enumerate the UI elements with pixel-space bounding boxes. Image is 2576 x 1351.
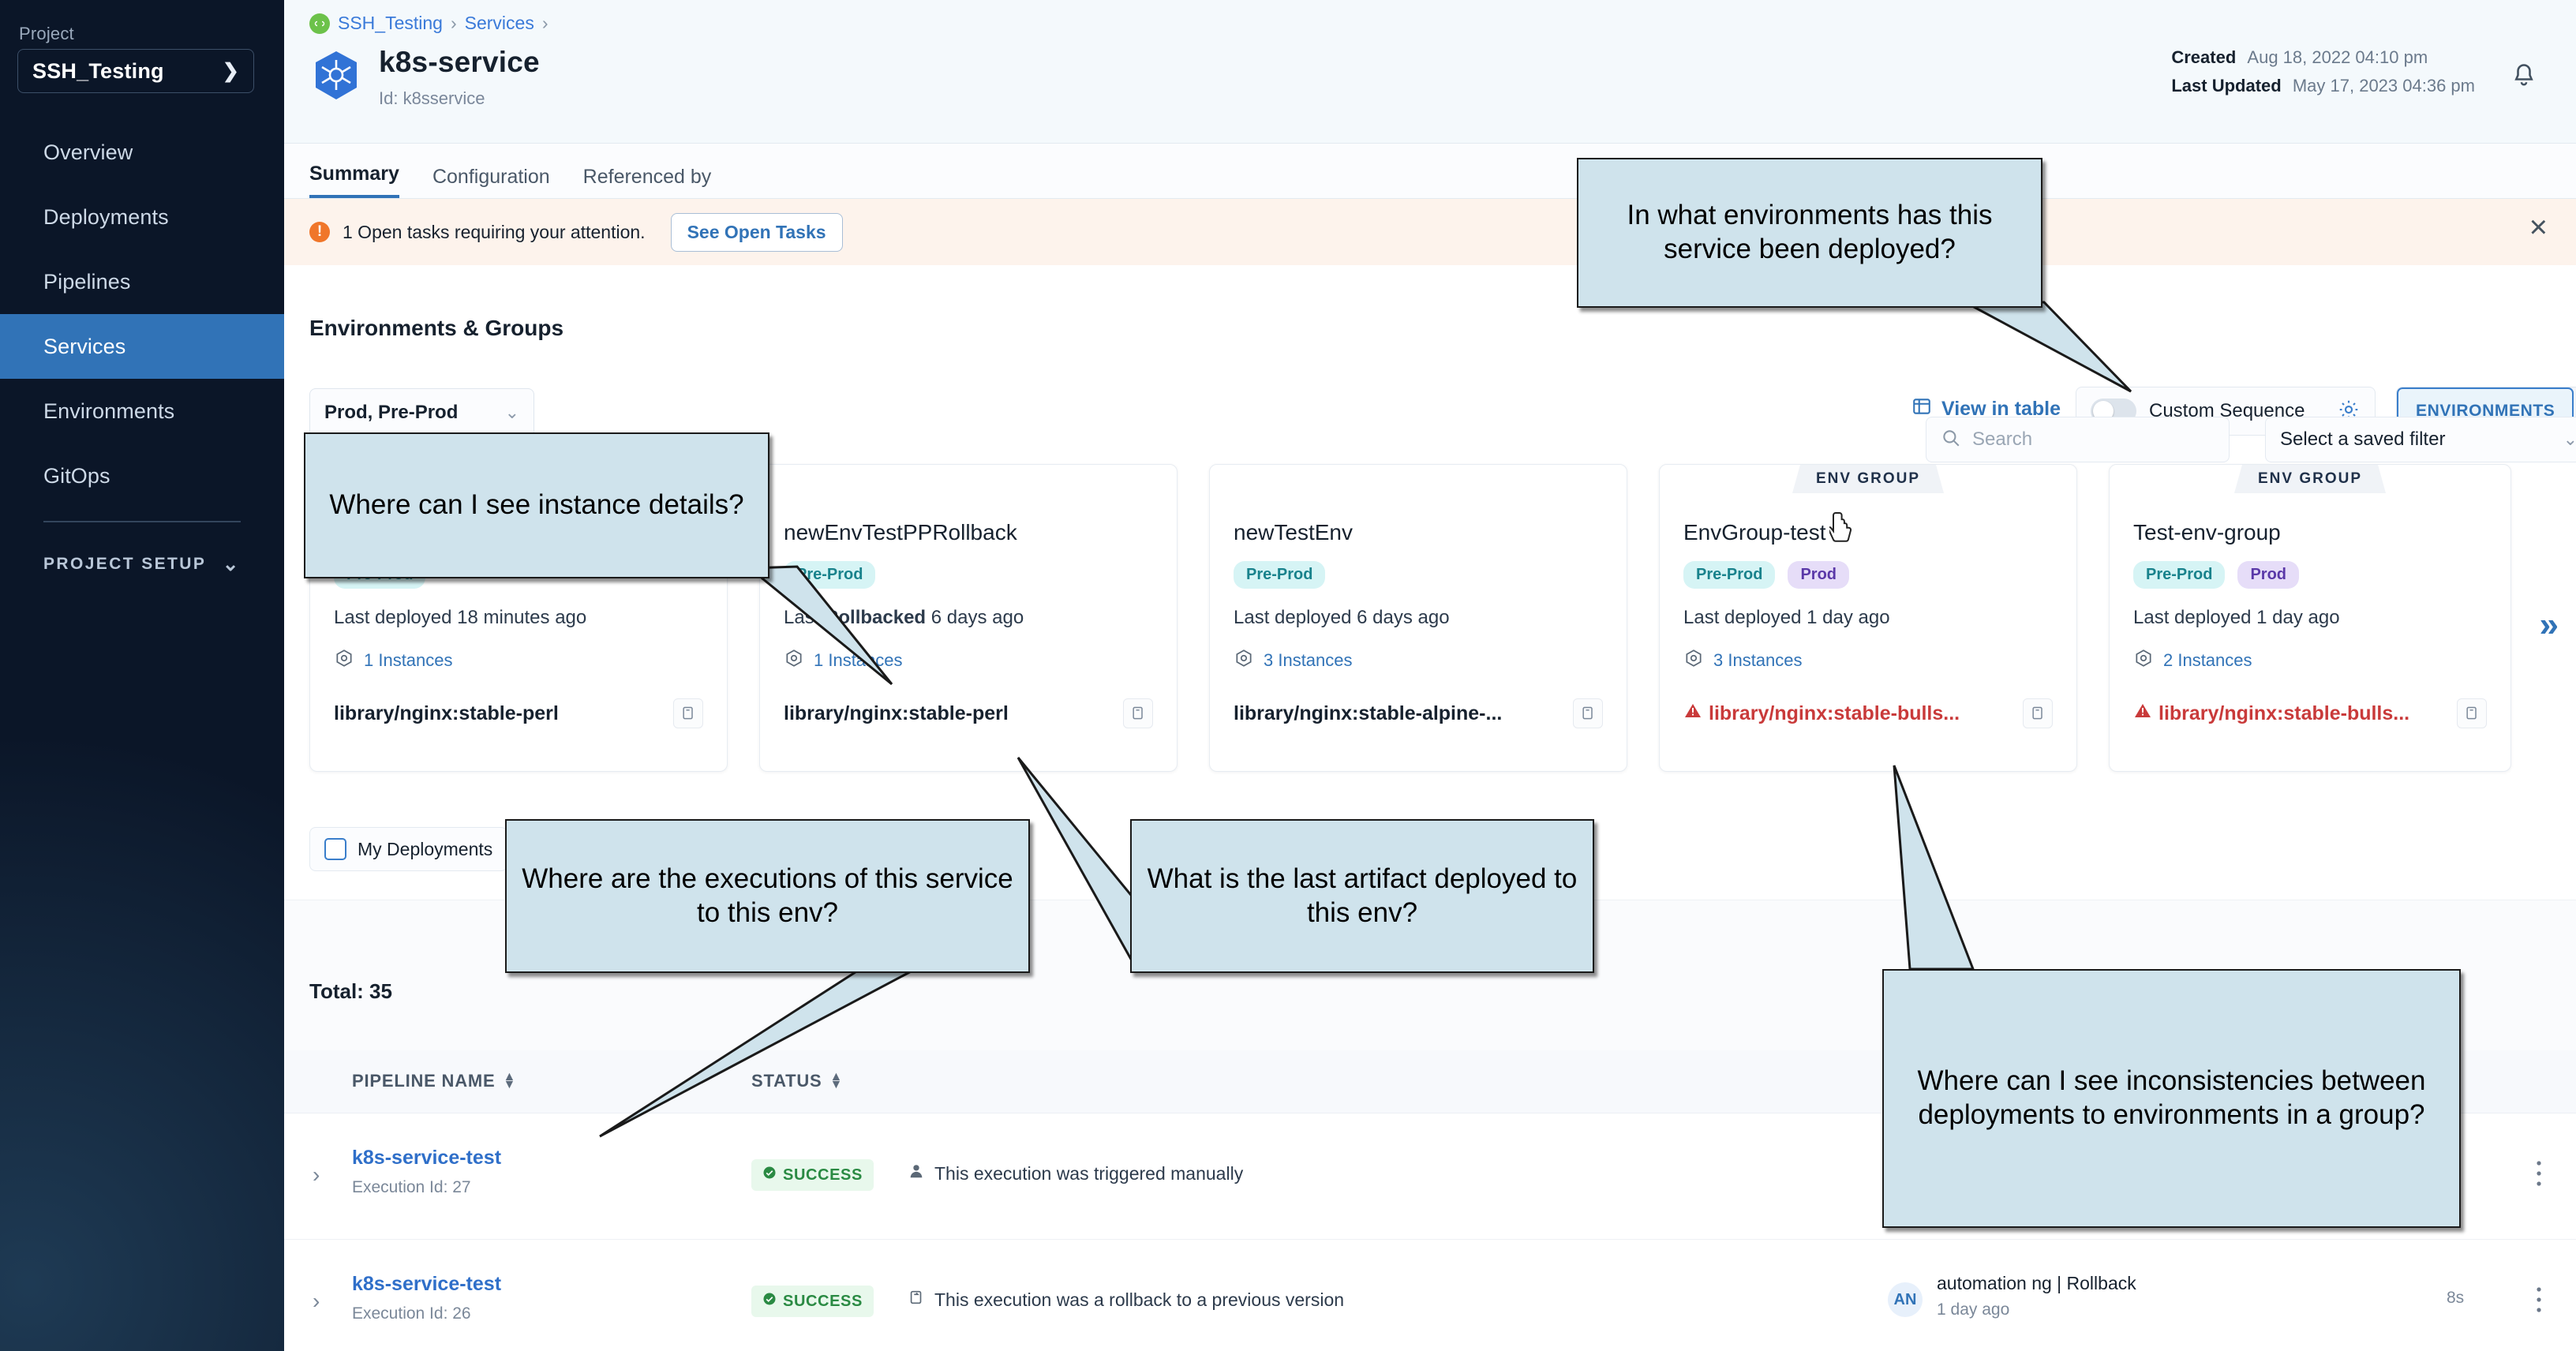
artifact-name: library/nginx:stable-bulls... — [2133, 702, 2409, 726]
breadcrumb-project[interactable]: SSH_Testing — [338, 13, 443, 34]
last-updated-label: Last Updated — [2171, 76, 2281, 95]
environment-group-card[interactable]: ENV GROUP EnvGroup-test Pre-Prod Prod La… — [1659, 464, 2077, 772]
deployed-prefix: Last deployed — [2133, 607, 2256, 628]
instances-icon — [334, 648, 354, 673]
org-logo-icon — [309, 13, 330, 34]
trigger-info: This execution was triggered manually — [908, 1162, 1243, 1184]
artifact-name-text: library/nginx:stable-bulls... — [1709, 702, 1960, 725]
trigger-text: This execution was a rollback to a previ… — [934, 1289, 1344, 1311]
environment-card-deployed: Last deployed 6 days ago — [1234, 607, 1450, 629]
sidebar-nav: Overview Deployments Pipelines Services … — [0, 120, 284, 508]
chevron-down-icon: ⌄ — [223, 552, 241, 576]
callout-environments: In what environments has this service be… — [1577, 158, 2042, 308]
sidebar-item-services[interactable]: Services — [0, 314, 284, 379]
avatar: AN — [1888, 1282, 1923, 1317]
environment-type-value: Prod, Pre-Prod — [324, 402, 458, 424]
deployed-prefix: Last — [784, 607, 825, 628]
instances-icon — [1683, 648, 1704, 673]
sidebar-item-label: Services — [43, 335, 125, 359]
service-tabs: Summary Configuration Referenced by — [284, 144, 2576, 199]
warning-icon: ! — [309, 222, 330, 242]
deployed-prefix: Last deployed — [334, 607, 457, 628]
environment-card-deployed: Last Rollbacked 6 days ago — [784, 607, 1024, 629]
instances-label: 3 Instances — [1264, 650, 1353, 671]
created-row: Created Aug 18, 2022 04:10 pm — [2171, 47, 2475, 68]
deployed-suffix: 1 day ago — [2256, 607, 2339, 628]
environment-card-name: Test-env-group — [2133, 520, 2281, 545]
environment-card-artifact: library/nginx:stable-alpine-... — [1234, 698, 1603, 728]
environment-card-chips: Pre-Prod Prod — [2133, 561, 2299, 589]
table-row[interactable]: › k8s-service-test Execution Id: 26 SUCC… — [284, 1240, 2576, 1351]
environment-card-chips: Pre-Prod Prod — [1683, 561, 1849, 589]
saved-filter-value: Select a saved filter — [2280, 429, 2445, 451]
pipeline-name-link[interactable]: k8s-service-test — [352, 1147, 501, 1169]
user-icon — [908, 1162, 925, 1184]
sidebar-item-overview[interactable]: Overview — [0, 120, 284, 185]
sidebar-item-label: Environments — [43, 399, 174, 424]
environment-card-deployed: Last deployed 1 day ago — [2133, 607, 2340, 629]
status-badge: SUCCESS — [751, 1286, 874, 1317]
expand-row-icon[interactable]: › — [313, 1289, 320, 1314]
deployed-suffix: 6 days ago — [1357, 607, 1449, 628]
sidebar-item-label: GitOps — [43, 464, 110, 488]
instances-label: 3 Instances — [1713, 650, 1803, 671]
sidebar-item-environments[interactable]: Environments — [0, 379, 284, 443]
expand-row-icon[interactable]: › — [313, 1162, 320, 1188]
project-setup-label: PROJECT SETUP — [43, 555, 206, 574]
sort-icon[interactable]: ▲▼ — [504, 1073, 517, 1089]
success-check-icon — [762, 1292, 777, 1311]
callout-executions: Where are the executions of this service… — [505, 819, 1030, 973]
sort-icon[interactable]: ▲▼ — [830, 1073, 844, 1089]
created-value: Aug 18, 2022 04:10 pm — [2247, 47, 2428, 67]
column-label: PIPELINE NAME — [352, 1071, 496, 1091]
project-selector[interactable]: SSH_Testing ❯ — [17, 49, 254, 93]
sidebar-item-deployments[interactable]: Deployments — [0, 185, 284, 249]
sidebar-item-label: Pipelines — [43, 270, 130, 294]
service-meta: Created Aug 18, 2022 04:10 pm Last Updat… — [2171, 47, 2475, 104]
copy-icon[interactable] — [2023, 698, 2053, 728]
execution-id: Execution Id: 26 — [352, 1304, 471, 1323]
env-group-badge: ENV GROUP — [2234, 465, 2386, 493]
environment-card-chips: Pre-Prod — [1234, 561, 1325, 589]
pipeline-name-link[interactable]: k8s-service-test — [352, 1273, 501, 1296]
instances-link[interactable]: 2 Instances — [2133, 648, 2252, 673]
artifact-warning-icon — [2133, 702, 2152, 726]
artifact-name: library/nginx:stable-perl — [784, 702, 1009, 725]
saved-filter-select[interactable]: Select a saved filter ⌄ — [2265, 417, 2576, 462]
environment-card-artifact: library/nginx:stable-bulls... — [2133, 698, 2487, 728]
kubernetes-icon — [309, 49, 363, 103]
copy-icon[interactable] — [2457, 698, 2487, 728]
chip-pre-prod: Pre-Prod — [1683, 561, 1775, 589]
last-updated-row: Last Updated May 17, 2023 04:36 pm — [2171, 76, 2475, 96]
rollback-icon — [908, 1289, 925, 1311]
trigger-text: This execution was triggered manually — [934, 1163, 1243, 1184]
executed-when: 1 day ago — [1937, 1300, 2136, 1319]
environment-card-name: EnvGroup-test — [1683, 520, 1826, 545]
environment-card-deployed: Last deployed 1 day ago — [1683, 607, 1890, 629]
success-check-icon — [762, 1166, 777, 1184]
see-open-tasks-button[interactable]: See Open Tasks — [671, 213, 843, 252]
sidebar-item-project-setup[interactable]: PROJECT SETUP ⌄ — [43, 552, 241, 576]
instances-label: 1 Instances — [364, 650, 453, 671]
executed-by: AN automation ng | Rollback 1 day ago — [1888, 1273, 2136, 1319]
carousel-next-button[interactable]: » — [2540, 608, 2559, 642]
instances-link[interactable]: 3 Instances — [1234, 648, 1353, 673]
environment-card-chips: Pre-Prod — [784, 561, 875, 589]
executed-by-name: automation ng | Rollback — [1937, 1273, 2136, 1294]
artifact-name: library/nginx:stable-bulls... — [1683, 702, 1960, 726]
copy-icon[interactable] — [673, 698, 703, 728]
chip-prod: Prod — [2237, 561, 2299, 589]
sidebar-item-label: Overview — [43, 140, 133, 165]
callout-last-artifact: What is the last artifact deployed to th… — [1130, 819, 1594, 973]
column-label: STATUS — [751, 1071, 822, 1091]
tab-referenced-by[interactable]: Referenced by — [583, 166, 712, 198]
search-icon — [1941, 428, 1961, 452]
sidebar: Project SSH_Testing ❯ Overview Deploymen… — [0, 0, 284, 1351]
mouse-cursor — [1829, 511, 1856, 548]
deployed-suffix: 6 days ago — [926, 607, 1024, 628]
environment-card[interactable]: newTestEnv Pre-Prod Last deployed 6 days… — [1209, 464, 1627, 772]
tab-summary[interactable]: Summary — [309, 163, 399, 198]
environment-card-name: newTestEnv — [1234, 520, 1353, 545]
instances-icon — [2133, 648, 2154, 673]
total-count: Total: 35 — [309, 979, 392, 1004]
deployed-prefix: Last deployed — [1234, 607, 1357, 628]
environment-card[interactable]: newEnvTestPPRollback Pre-Prod Last Rollb… — [759, 464, 1178, 772]
environments-section-title: Environments & Groups — [309, 316, 563, 341]
sidebar-item-pipelines[interactable]: Pipelines — [0, 249, 284, 314]
artifact-name-text: library/nginx:stable-bulls... — [2159, 702, 2409, 725]
instances-label: 2 Instances — [2163, 650, 2252, 671]
close-icon[interactable]: × — [2529, 211, 2548, 243]
environment-type-filter[interactable]: Prod, Pre-Prod ⌄ — [309, 388, 534, 437]
breadcrumb-separator: › — [451, 13, 457, 34]
chevron-down-icon: ⌄ — [505, 402, 519, 423]
execution-id: Execution Id: 27 — [352, 1178, 471, 1197]
deployed-suffix: 1 day ago — [1807, 607, 1889, 628]
instances-icon — [1234, 648, 1254, 673]
my-deployments-filter[interactable]: My Deployments — [309, 827, 507, 871]
environment-card-artifact: library/nginx:stable-perl — [334, 698, 703, 728]
callout-inconsistencies: Where can I see inconsistencies between … — [1882, 969, 2461, 1228]
service-id: Id: k8sservice — [379, 88, 485, 109]
search-input[interactable]: Search — [1926, 417, 2230, 462]
chip-pre-prod: Pre-Prod — [1234, 561, 1325, 589]
copy-icon[interactable] — [1573, 698, 1603, 728]
project-name: SSH_Testing — [32, 59, 164, 84]
page-header: SSH_Testing › Services › k8s-service Id:… — [284, 0, 2576, 144]
chevron-down-icon: ⌄ — [2563, 429, 2576, 450]
chip-pre-prod: Pre-Prod — [2133, 561, 2225, 589]
callout-instance-details: Where can I see instance details? — [304, 432, 769, 578]
artifact-name: library/nginx:stable-perl — [334, 702, 559, 725]
environment-card-name: newEnvTestPPRollback — [784, 520, 1017, 545]
deployed-prefix: Last deployed — [1683, 607, 1807, 628]
app-window: Project SSH_Testing ❯ Overview Deploymen… — [0, 0, 2576, 1351]
notification-bell-icon[interactable] — [2510, 62, 2538, 90]
project-label: Project — [19, 24, 74, 44]
my-deployments-checkbox[interactable] — [324, 838, 346, 860]
sidebar-item-gitops[interactable]: GitOps — [0, 443, 284, 508]
last-updated-value: May 17, 2023 04:36 pm — [2293, 76, 2475, 95]
instances-icon — [784, 648, 804, 673]
my-deployments-label: My Deployments — [358, 839, 492, 860]
chip-pre-prod: Pre-Prod — [784, 561, 875, 589]
environment-group-card[interactable]: ENV GROUP Test-env-group Pre-Prod Prod L… — [2109, 464, 2511, 772]
breadcrumb: SSH_Testing › Services › — [309, 13, 549, 34]
column-header-pipeline-name[interactable]: PIPELINE NAME ▲▼ — [352, 1071, 516, 1091]
created-label: Created — [2171, 47, 2236, 67]
breadcrumb-services[interactable]: Services — [465, 13, 534, 34]
trigger-info: This execution was a rollback to a previ… — [908, 1289, 1344, 1311]
instances-link[interactable]: 1 Instances — [784, 648, 903, 673]
tab-configuration[interactable]: Configuration — [432, 166, 550, 198]
environment-card-deployed: Last deployed 18 minutes ago — [334, 607, 586, 629]
duration: 8s — [2447, 1289, 2464, 1308]
search-placeholder: Search — [1972, 429, 2032, 451]
status-label: SUCCESS — [783, 1166, 863, 1184]
deployed-bold: Rollbacked — [825, 607, 926, 628]
environment-card-artifact: library/nginx:stable-bulls... — [1683, 698, 2053, 728]
breadcrumb-separator-2: › — [542, 13, 549, 34]
column-header-status[interactable]: STATUS ▲▼ — [751, 1071, 843, 1091]
copy-icon[interactable] — [1123, 698, 1153, 728]
env-group-badge: ENV GROUP — [1792, 465, 1944, 493]
status-label: SUCCESS — [783, 1293, 863, 1311]
deployed-suffix: 18 minutes ago — [457, 607, 586, 628]
row-menu-icon[interactable] — [2535, 1284, 2543, 1319]
artifact-name: library/nginx:stable-alpine-... — [1234, 702, 1502, 725]
status-badge: SUCCESS — [751, 1159, 874, 1191]
instances-link[interactable]: 1 Instances — [334, 648, 453, 673]
open-tasks-text: 1 Open tasks requiring your attention. — [343, 222, 646, 243]
instances-label: 1 Instances — [814, 650, 903, 671]
sidebar-divider — [43, 521, 241, 522]
chevron-right-icon: ❯ — [223, 59, 239, 83]
page-title: k8s-service — [379, 46, 540, 79]
environment-card-artifact: library/nginx:stable-perl — [784, 698, 1153, 728]
artifact-warning-icon — [1683, 702, 1702, 726]
sidebar-item-label: Deployments — [43, 205, 169, 230]
instances-link[interactable]: 3 Instances — [1683, 648, 1803, 673]
row-menu-icon[interactable] — [2535, 1158, 2543, 1193]
chip-prod: Prod — [1788, 561, 1849, 589]
open-tasks-banner: ! 1 Open tasks requiring your attention.… — [284, 199, 2576, 265]
